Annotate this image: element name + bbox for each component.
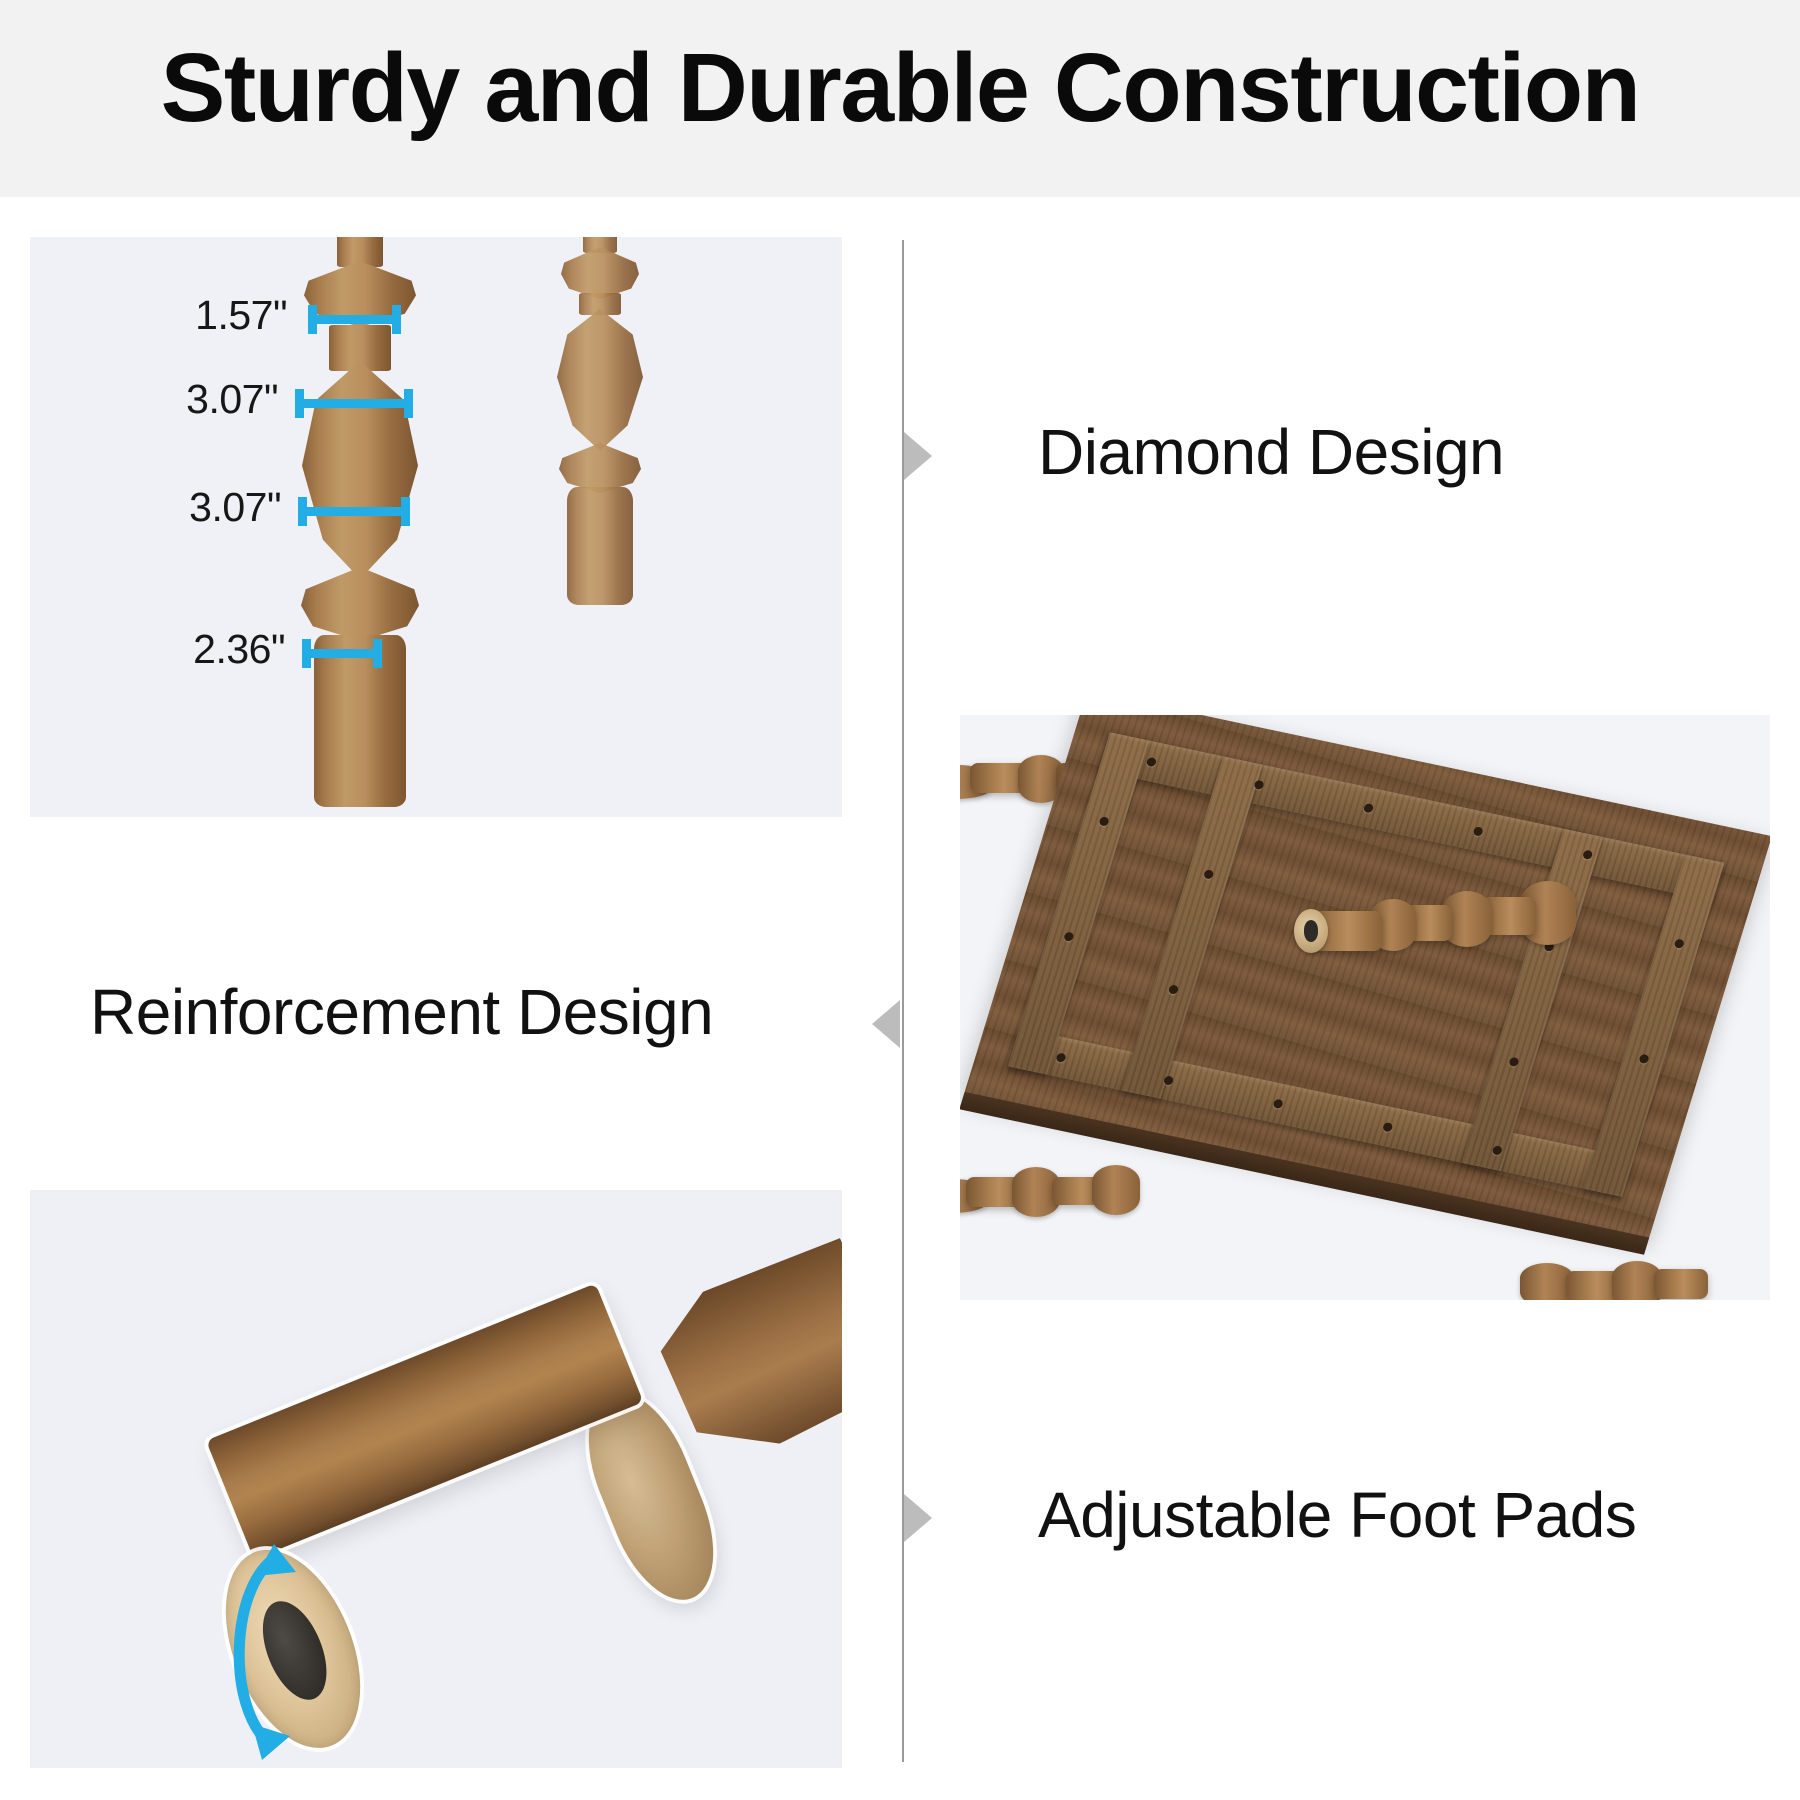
- pointer-left-icon-reinforcement-design: [872, 1000, 900, 1048]
- photo-table-underside: [960, 715, 1770, 1300]
- photo-turned-table-legs: 1.57" 3.07" 3.07" 2.36": [30, 237, 842, 817]
- table-leg-main: [300, 237, 420, 747]
- pointer-right-icon-adjustable-foot-pads: [904, 1494, 932, 1542]
- table-top-underside: [964, 715, 1770, 1239]
- feature-label-reinforcement-design: Reinforcement Design: [90, 975, 713, 1049]
- rotation-arrows-icon: [212, 1524, 392, 1768]
- feature-label-adjustable-foot-pads: Adjustable Foot Pads: [1038, 1478, 1636, 1552]
- infographic-page: Sturdy and Durable Construction Diamond …: [0, 0, 1800, 1800]
- page-title: Sturdy and Durable Construction: [0, 32, 1800, 144]
- measurement-bar-4: [302, 649, 382, 658]
- measurement-label-1: 1.57": [175, 292, 287, 339]
- measurement-label-3: 3.07": [163, 484, 281, 531]
- reinforcement-rail-right: [1583, 855, 1724, 1197]
- photo-adjustable-foot-pad: [30, 1190, 842, 1768]
- table-leg-secondary: [550, 237, 650, 597]
- feature-label-diamond-design: Diamond Design: [1038, 415, 1504, 489]
- leg-lower-column: [206, 1283, 643, 1559]
- measurement-bar-1: [308, 315, 401, 324]
- reinforcement-brace-inner-left: [1121, 756, 1262, 1098]
- measurement-label-4: 2.36": [165, 626, 285, 673]
- measurement-bar-3: [298, 507, 410, 516]
- measurement-bar-2: [295, 399, 413, 408]
- reinforcement-brace-inner-right: [1462, 829, 1603, 1171]
- foot-pad-on-leg: [1294, 909, 1328, 953]
- pointer-right-icon-diamond-design: [904, 432, 932, 480]
- measurement-label-2: 3.07": [160, 376, 278, 423]
